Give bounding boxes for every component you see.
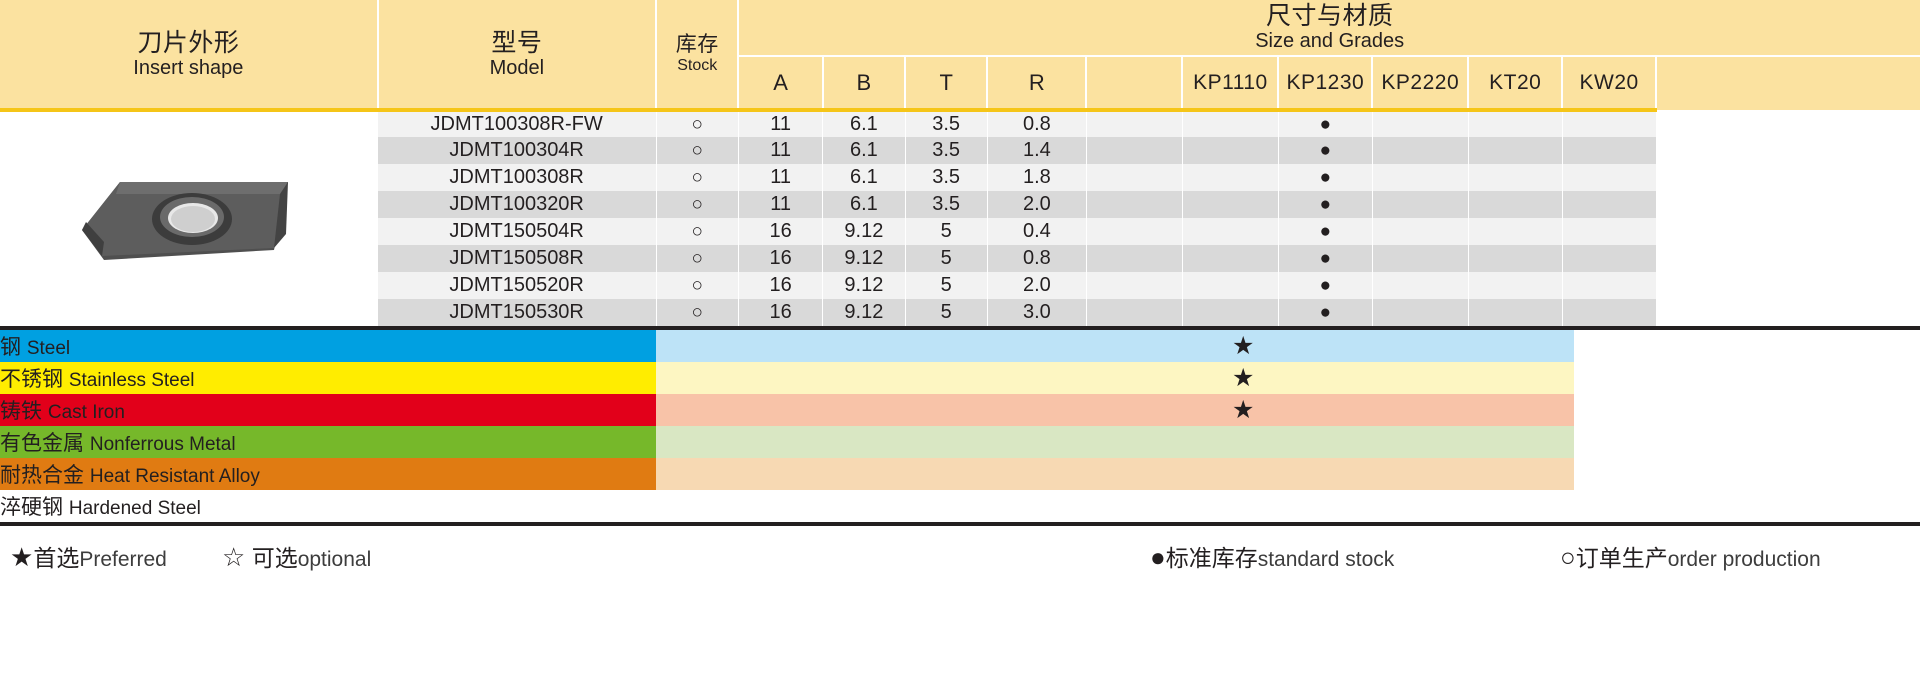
material-label-heat-resistant-alloy: 耐热合金 Heat Resistant Alloy — [0, 458, 656, 490]
cell-dim-a: 16 — [738, 218, 822, 245]
legend-order-production: ○订单生产order production — [1560, 539, 1821, 573]
filled-dot-icon: ● — [1150, 542, 1166, 572]
material-row-cast-iron: 铸铁 Cast Iron ★ — [0, 394, 1920, 426]
material-cell — [741, 330, 823, 362]
cell-stock: ○ — [656, 191, 738, 218]
material-cell — [823, 362, 905, 394]
cell-grade-blank — [1086, 272, 1182, 299]
cell-dim-a: 11 — [738, 110, 822, 137]
material-cell — [1004, 490, 1100, 522]
cell-dim-r: 0.8 — [987, 245, 1086, 272]
cell-grade-blank — [1086, 218, 1182, 245]
material-mark-kp1230: ★ — [1196, 362, 1290, 394]
material-label-cast-iron: 铸铁 Cast Iron — [0, 394, 656, 426]
cell-dim-r: 2.0 — [987, 191, 1086, 218]
cell-dim-r: 3.0 — [987, 299, 1086, 326]
material-row-hardened-steel: 淬硬钢 Hardened Steel — [0, 490, 1920, 522]
insert-catalog-page: 刀片外形 Insert shape 型号 Model 库存 Stock 尺寸与材… — [0, 0, 1920, 679]
header-insert-shape-cn: 刀片外形 — [0, 29, 377, 57]
header-insert-shape: 刀片外形 Insert shape — [0, 0, 378, 110]
material-cell — [1004, 458, 1100, 490]
cell-dim-r: 1.8 — [987, 164, 1086, 191]
cell-grade-kp1110 — [1182, 137, 1278, 164]
material-cell — [741, 490, 823, 522]
cell-dim-a: 16 — [738, 272, 822, 299]
header-grade-kt20: KT20 — [1489, 71, 1541, 94]
cell-grade-kw20 — [1562, 299, 1656, 326]
cell-dim-a: 16 — [738, 299, 822, 326]
material-label-stainless-steel: 不锈钢 Stainless Steel — [0, 362, 656, 394]
cell-dim-a: 11 — [738, 164, 822, 191]
material-label-steel: 钢 Steel — [0, 330, 656, 362]
cell-grade-blank — [1086, 164, 1182, 191]
cell-model: JDMT100304R — [378, 137, 656, 164]
cell-dim-t: 5 — [905, 245, 987, 272]
material-label-cn: 铸铁 — [0, 400, 42, 423]
header-stock-cn: 库存 — [657, 33, 737, 57]
header-dim-T: T — [939, 70, 952, 95]
material-label-cn: 钢 — [0, 336, 21, 359]
material-cell — [823, 330, 905, 362]
cell-grade-kw20 — [1562, 164, 1656, 191]
cell-grade-kp1230: ● — [1278, 110, 1372, 137]
material-cell — [656, 458, 740, 490]
material-mark-kp1230 — [1196, 458, 1290, 490]
cell-dim-b: 9.12 — [823, 299, 905, 326]
cell-dim-a: 11 — [738, 191, 822, 218]
insert-shape-image — [0, 110, 378, 326]
header-model-cn: 型号 — [379, 29, 655, 57]
material-cell — [905, 426, 1004, 458]
material-cell — [905, 490, 1004, 522]
material-label-nonferrous-metal: 有色金属 Nonferrous Metal — [0, 426, 656, 458]
cell-dim-r: 0.4 — [987, 218, 1086, 245]
cell-dim-b: 6.1 — [823, 137, 905, 164]
cell-grade-kt20 — [1468, 110, 1562, 137]
material-label-en: Heat Resistant Alloy — [90, 466, 260, 487]
material-mark-kt20 — [1386, 490, 1480, 522]
material-mark-kp1110 — [1100, 394, 1196, 426]
material-mark-kp2220 — [1290, 458, 1386, 490]
header-grade-kp1230: KP1230 — [1286, 71, 1364, 94]
material-cell — [905, 458, 1004, 490]
material-cell-trailing — [1574, 330, 1920, 362]
material-mark-kp2220 — [1290, 362, 1386, 394]
cell-dim-b: 6.1 — [823, 191, 905, 218]
material-cell — [656, 330, 740, 362]
cell-grade-kp2220 — [1372, 191, 1468, 218]
material-mark-kw20 — [1480, 330, 1574, 362]
material-cell — [905, 394, 1004, 426]
legend-bar: ★首选Preferred ☆ 可选optional ●标准库存standard … — [0, 522, 1920, 582]
cell-dim-t: 3.5 — [905, 110, 987, 137]
cell-grade-kp1110 — [1182, 218, 1278, 245]
material-mark-kp1230: ★ — [1196, 394, 1290, 426]
material-cell — [905, 362, 1004, 394]
cell-grade-kp2220 — [1372, 110, 1468, 137]
cell-grade-blank — [1086, 245, 1182, 272]
cell-model: JDMT100320R — [378, 191, 656, 218]
material-row-nonferrous-metal: 有色金属 Nonferrous Metal — [0, 426, 1920, 458]
cell-model: JDMT150504R — [378, 218, 656, 245]
cell-grade-kp2220 — [1372, 218, 1468, 245]
material-cell — [656, 394, 740, 426]
cell-model: JDMT150520R — [378, 272, 656, 299]
cell-dim-b: 6.1 — [823, 164, 905, 191]
header-grade-kw20: KW20 — [1580, 71, 1639, 94]
header-dim-B: B — [857, 70, 872, 95]
material-label-cn: 有色金属 — [0, 432, 84, 455]
cell-stock: ○ — [656, 245, 738, 272]
cell-dim-r: 1.4 — [987, 137, 1086, 164]
legend-standard-stock: ●标准库存standard stock — [1150, 539, 1394, 573]
cell-dim-b: 9.12 — [823, 245, 905, 272]
material-mark-kp1230: ★ — [1196, 330, 1290, 362]
cell-dim-b: 6.1 — [823, 110, 905, 137]
material-mark-kw20 — [1480, 362, 1574, 394]
cell-dim-r: 2.0 — [987, 272, 1086, 299]
material-mark-kt20 — [1386, 362, 1480, 394]
material-row-heat-resistant-alloy: 耐热合金 Heat Resistant Alloy — [0, 458, 1920, 490]
cell-model: JDMT150530R — [378, 299, 656, 326]
material-label-en: Cast Iron — [48, 402, 125, 423]
cell-dim-t: 5 — [905, 299, 987, 326]
header-grade-kp1110: KP1110 — [1193, 71, 1268, 94]
legend-standard-stock-en: standard stock — [1258, 548, 1395, 571]
material-cell — [656, 362, 740, 394]
material-mark-kp1110 — [1100, 426, 1196, 458]
legend-order-production-cn: 订单生产 — [1576, 545, 1668, 571]
material-mark-kp2220 — [1290, 394, 1386, 426]
header-dim-A: A — [773, 70, 788, 95]
material-label-cn: 淬硬钢 — [0, 496, 63, 519]
material-cell-trailing — [1574, 362, 1920, 394]
material-label-cn: 耐热合金 — [0, 464, 84, 487]
cell-stock: ○ — [656, 137, 738, 164]
legend-optional: ☆ 可选optional — [222, 539, 371, 573]
cell-grade-kp1230: ● — [1278, 272, 1372, 299]
cell-grade-kp1230: ● — [1278, 245, 1372, 272]
material-mark-kp2220 — [1290, 330, 1386, 362]
cell-grade-kp1230: ● — [1278, 191, 1372, 218]
material-mark-kt20 — [1386, 426, 1480, 458]
material-row-stainless-steel: 不锈钢 Stainless Steel ★ — [0, 362, 1920, 394]
cell-grade-kp1230: ● — [1278, 137, 1372, 164]
cell-stock: ○ — [656, 218, 738, 245]
material-label-en: Steel — [27, 338, 70, 359]
material-label-en: Stainless Steel — [69, 370, 195, 391]
legend-order-production-en: order production — [1668, 548, 1821, 571]
material-cell — [1004, 362, 1100, 394]
material-cell-trailing — [1574, 490, 1920, 522]
header-size-and-grades: 尺寸与材质 Size and Grades — [738, 0, 1920, 56]
material-cell — [741, 426, 823, 458]
cell-dim-b: 9.12 — [823, 218, 905, 245]
cell-grade-kp2220 — [1372, 164, 1468, 191]
cell-grade-kt20 — [1468, 299, 1562, 326]
cell-grade-kw20 — [1562, 272, 1656, 299]
material-mark-kp1110 — [1100, 362, 1196, 394]
cell-dim-t: 3.5 — [905, 137, 987, 164]
cell-grade-kt20 — [1468, 164, 1562, 191]
cell-grade-kp1230: ● — [1278, 218, 1372, 245]
material-row-steel: 钢 Steel ★ — [0, 330, 1920, 362]
cell-grade-blank — [1086, 191, 1182, 218]
cell-grade-kw20 — [1562, 137, 1656, 164]
material-mark-kp1110 — [1100, 330, 1196, 362]
cell-grade-kp2220 — [1372, 245, 1468, 272]
cell-dim-t: 3.5 — [905, 164, 987, 191]
material-cell — [741, 394, 823, 426]
insert-3d-drawing — [74, 164, 304, 274]
cell-grade-blank — [1086, 110, 1182, 137]
header-dim-R: R — [1029, 70, 1045, 95]
material-mark-kp1110 — [1100, 458, 1196, 490]
cell-grade-kw20 — [1562, 191, 1656, 218]
material-cell — [741, 362, 823, 394]
material-mark-kt20 — [1386, 330, 1480, 362]
header-model: 型号 Model — [378, 0, 656, 110]
material-mark-kt20 — [1386, 458, 1480, 490]
cell-grade-kp1110 — [1182, 110, 1278, 137]
material-cell — [823, 426, 905, 458]
cell-dim-r: 0.8 — [987, 110, 1086, 137]
cell-dim-a: 11 — [738, 137, 822, 164]
material-label-cn: 不锈钢 — [0, 368, 63, 391]
cell-grade-kw20 — [1562, 245, 1656, 272]
cell-stock: ○ — [656, 299, 738, 326]
hollow-star-icon: ☆ — [222, 542, 245, 572]
cell-grade-kp2220 — [1372, 299, 1468, 326]
cell-grade-kw20 — [1562, 218, 1656, 245]
cell-dim-b: 9.12 — [823, 272, 905, 299]
material-mark-kp2220 — [1290, 490, 1386, 522]
cell-grade-kw20 — [1562, 110, 1656, 137]
cell-dim-t: 3.5 — [905, 191, 987, 218]
material-mark-kp2220 — [1290, 426, 1386, 458]
cell-stock: ○ — [656, 272, 738, 299]
material-cell — [905, 330, 1004, 362]
legend-preferred-en: Preferred — [79, 548, 167, 571]
filled-star-icon: ★ — [10, 542, 33, 572]
cell-grade-kp1110 — [1182, 164, 1278, 191]
insert-spec-table: 刀片外形 Insert shape 型号 Model 库存 Stock 尺寸与材… — [0, 0, 1920, 326]
material-mark-kw20 — [1480, 394, 1574, 426]
material-label-en: Hardened Steel — [69, 498, 201, 519]
cell-grade-kp1110 — [1182, 191, 1278, 218]
material-cell — [823, 458, 905, 490]
cell-stock: ○ — [656, 164, 738, 191]
cell-grade-kp2220 — [1372, 272, 1468, 299]
cell-dim-t: 5 — [905, 218, 987, 245]
material-cell-trailing — [1574, 458, 1920, 490]
header-insert-shape-en: Insert shape — [0, 57, 377, 80]
cell-grade-kt20 — [1468, 218, 1562, 245]
material-cell — [656, 490, 740, 522]
legend-optional-cn: 可选 — [252, 545, 298, 571]
material-mark-kp1230 — [1196, 490, 1290, 522]
material-label-en: Nonferrous Metal — [90, 434, 236, 455]
cell-grade-kt20 — [1468, 245, 1562, 272]
header-size-and-grades-cn: 尺寸与材质 — [739, 2, 1920, 30]
material-cell — [1004, 330, 1100, 362]
cell-grade-kt20 — [1468, 137, 1562, 164]
cell-model: JDMT100308R — [378, 164, 656, 191]
material-mark-kw20 — [1480, 490, 1574, 522]
table-body-first-row: JDMT100308R-FW ○ 11 6.1 3.5 0.8 ● — [0, 110, 1920, 137]
cell-grade-blank — [1086, 299, 1182, 326]
cell-grade-kp1110 — [1182, 299, 1278, 326]
cell-grade-kp1230: ● — [1278, 164, 1372, 191]
material-mark-kp1110 — [1100, 490, 1196, 522]
header-grade-kp2220: KP2220 — [1381, 71, 1459, 94]
material-mark-kt20 — [1386, 394, 1480, 426]
material-cell — [823, 490, 905, 522]
legend-preferred-cn: 首选 — [33, 545, 79, 571]
material-mark-kw20 — [1480, 458, 1574, 490]
cell-grade-kp1110 — [1182, 272, 1278, 299]
material-cell — [1004, 426, 1100, 458]
material-table: 钢 Steel ★ 不锈钢 Stainless Steel — [0, 330, 1920, 522]
legend-optional-en: optional — [298, 548, 372, 571]
header-stock-en: Stock — [657, 57, 737, 75]
material-mark-kw20 — [1480, 426, 1574, 458]
material-cell — [656, 426, 740, 458]
header-size-and-grades-en: Size and Grades — [739, 30, 1920, 53]
cell-model: JDMT150508R — [378, 245, 656, 272]
cell-grade-kp1230: ● — [1278, 299, 1372, 326]
cell-grade-kp1110 — [1182, 245, 1278, 272]
table-header-row-primary: 刀片外形 Insert shape 型号 Model 库存 Stock 尺寸与材… — [0, 0, 1920, 56]
material-mark-kp1230 — [1196, 426, 1290, 458]
cell-grade-kp2220 — [1372, 137, 1468, 164]
hollow-circle-icon: ○ — [1560, 542, 1576, 572]
material-cell-trailing — [1574, 426, 1920, 458]
cell-model: JDMT100308R-FW — [378, 110, 656, 137]
material-application-band: 钢 Steel ★ 不锈钢 Stainless Steel — [0, 326, 1920, 522]
material-cell — [741, 458, 823, 490]
header-model-en: Model — [379, 57, 655, 80]
cell-grade-kt20 — [1468, 191, 1562, 218]
cell-dim-a: 16 — [738, 245, 822, 272]
cell-grade-kt20 — [1468, 272, 1562, 299]
header-stock: 库存 Stock — [656, 0, 738, 110]
material-cell-trailing — [1574, 394, 1920, 426]
cell-stock: ○ — [656, 110, 738, 137]
material-cell — [1004, 394, 1100, 426]
legend-preferred: ★首选Preferred — [10, 539, 167, 573]
cell-dim-t: 5 — [905, 272, 987, 299]
material-cell — [823, 394, 905, 426]
legend-standard-stock-cn: 标准库存 — [1166, 545, 1258, 571]
material-label-hardened-steel: 淬硬钢 Hardened Steel — [0, 490, 656, 522]
cell-grade-blank — [1086, 137, 1182, 164]
